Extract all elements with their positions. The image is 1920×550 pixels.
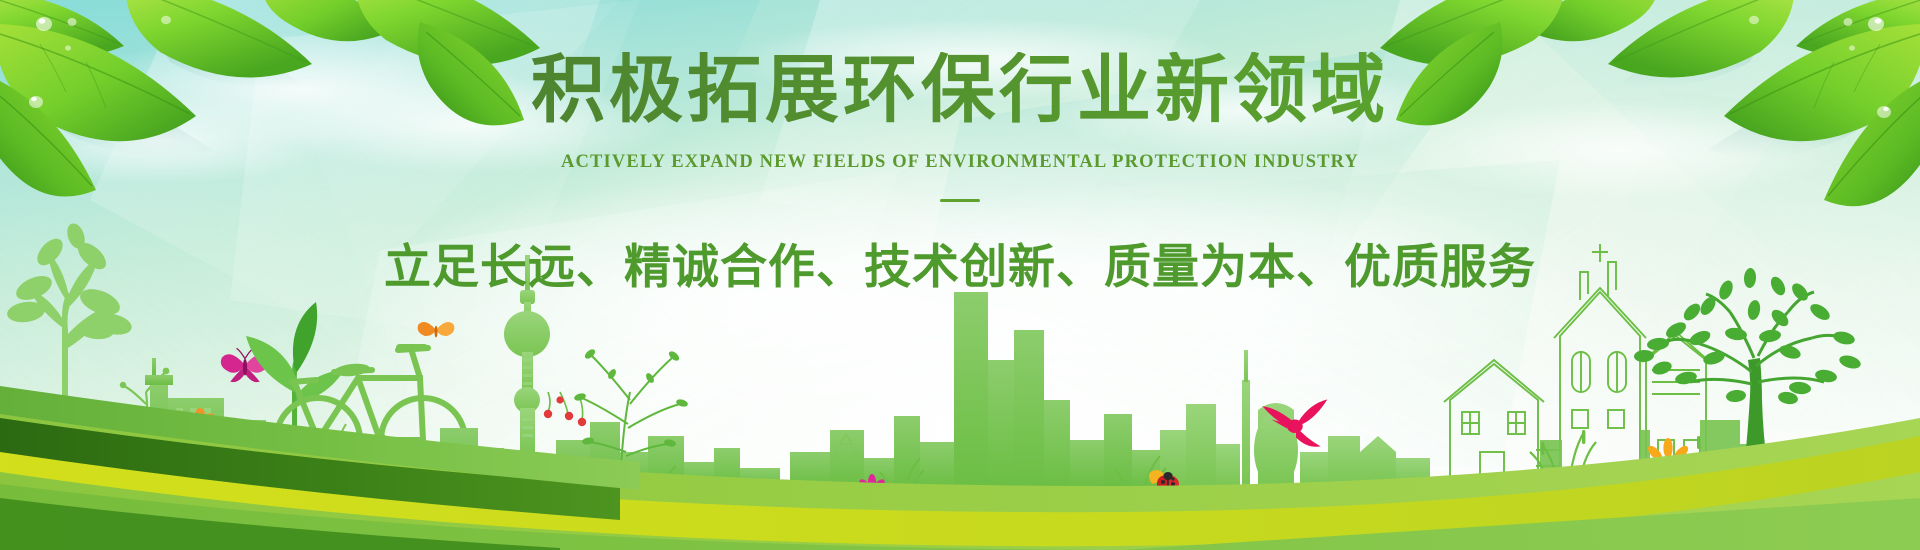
leaf-cluster-icon (1380, 0, 1920, 206)
leaf-decoration-layer (0, 0, 1920, 550)
leaf-cluster-icon (0, 0, 540, 197)
environmental-banner: 积极拓展环保行业新领域 ACTIVELY EXPAND NEW FIELDS O… (0, 0, 1920, 550)
